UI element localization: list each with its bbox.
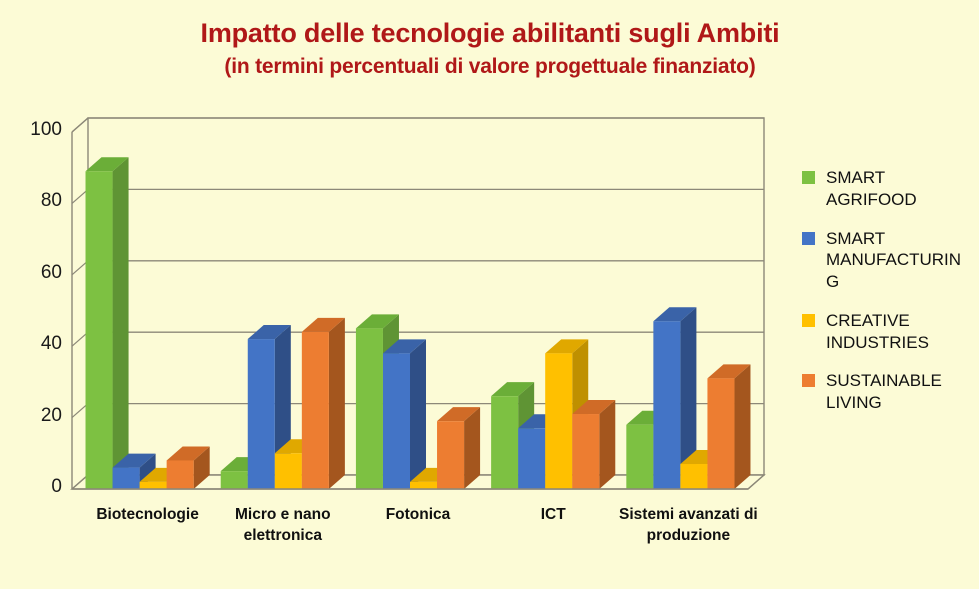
bar-front-face [248, 339, 275, 489]
x-axis-category-label: ICT [488, 505, 618, 526]
bar-front-face [707, 378, 734, 489]
bar-front-face [302, 332, 329, 489]
bar-front-face [572, 414, 599, 489]
bar[interactable] [302, 318, 345, 489]
bar-front-face [518, 428, 545, 489]
bar-side-face [464, 407, 480, 489]
bar-side-face [599, 400, 615, 489]
legend-item[interactable]: CREATIVE INDUSTRIES [802, 310, 974, 354]
bar-side-face [734, 364, 750, 489]
legend-swatch-icon [802, 314, 815, 327]
chart-legend: SMART AGRIFOODSMART MANUFACTURINGCREATIV… [802, 167, 974, 431]
bar[interactable] [437, 407, 480, 489]
bar-side-face [329, 318, 345, 489]
legend-label: SMART AGRIFOOD [826, 167, 974, 211]
y-axis-tick-label: 20 [14, 405, 62, 427]
bar-front-face [275, 453, 302, 489]
bar[interactable] [572, 400, 615, 489]
legend-swatch-icon [802, 374, 815, 387]
y-axis-tick-label: 80 [14, 190, 62, 212]
bar-front-face [437, 421, 464, 489]
x-axis-category-label: Fotonica [348, 505, 488, 526]
bar-front-face [167, 460, 194, 489]
bar-front-face [545, 353, 572, 489]
bar-side-face [410, 339, 426, 489]
legend-swatch-icon [802, 171, 815, 184]
x-axis-category-label: Biotecnologie [73, 505, 223, 526]
legend-item[interactable]: SMART MANUFACTURING [802, 228, 974, 293]
bar-front-face [680, 464, 707, 489]
y-axis-tick-label: 100 [14, 119, 62, 141]
y-axis-tick-label: 40 [14, 333, 62, 355]
legend-swatch-icon [802, 232, 815, 245]
bar-front-face [221, 471, 248, 489]
legend-label: SUSTAINABLE LIVING [826, 370, 974, 414]
bar-front-face [653, 321, 680, 489]
x-axis-category-label: Micro e nano elettronica [213, 505, 353, 547]
legend-item[interactable]: SMART AGRIFOOD [802, 167, 974, 211]
x-axis-category-label: Sistemi avanzati di produzione [618, 505, 758, 547]
bar-front-face [626, 425, 653, 489]
bar-front-face [410, 482, 437, 489]
legend-label: CREATIVE INDUSTRIES [826, 310, 974, 354]
bar-front-face [491, 396, 518, 489]
bar[interactable] [383, 339, 426, 489]
bar[interactable] [707, 364, 750, 489]
y-axis-tick-label: 0 [14, 476, 62, 498]
y-axis-tick-label: 60 [14, 262, 62, 284]
bar-side-face [113, 157, 129, 489]
bar-front-face [140, 482, 167, 489]
bar-front-face [383, 353, 410, 489]
chart-container: Impatto delle tecnologie abilitanti sugl… [0, 0, 979, 589]
axis-tick [72, 118, 88, 132]
bar[interactable] [86, 157, 129, 489]
legend-item[interactable]: SUSTAINABLE LIVING [802, 370, 974, 414]
legend-label: SMART MANUFACTURING [826, 228, 974, 293]
bar-front-face [86, 171, 113, 489]
bar-front-face [113, 468, 140, 489]
bar-front-face [356, 328, 383, 489]
